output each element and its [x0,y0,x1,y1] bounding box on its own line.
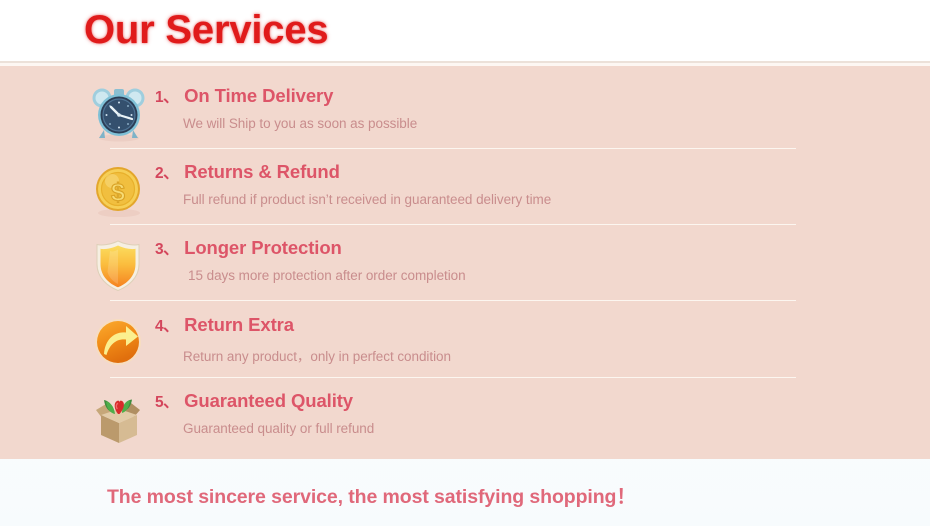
svg-text:$: $ [111,179,125,207]
service-item: 3、 Longer Protection 15 days more protec… [0,237,930,313]
service-title-line: 1、 On Time Delivery [155,85,417,111]
service-subtitle: Full refund if product isn’t received in… [183,192,551,207]
service-subtitle: Return any product，only in perfect condi… [183,345,451,365]
alarm-clock-icon [88,85,150,143]
row-divider [110,300,796,301]
service-text: 3、 Longer Protection 15 days more protec… [155,237,466,283]
shield-icon [88,237,150,295]
dollar-coin-icon: $ [88,161,150,219]
service-subtitle: We will Ship to you as soon as possible [183,116,417,131]
service-text: 5、 Guaranteed Quality Guaranteed quality… [155,390,374,436]
service-item: 5、 Guaranteed Quality Guaranteed quality… [0,390,930,466]
service-subtitle: 15 days more protection after order comp… [188,268,466,283]
service-title-line: 2、 Returns & Refund [155,161,551,187]
footer: The most sincere service, the most satis… [0,459,930,526]
page-title: Our Services [84,8,328,53]
service-number: 2、 [155,161,178,183]
service-title: Longer Protection [184,237,342,259]
service-number: 3、 [155,237,178,259]
service-text: 4、 Return Extra Return any product，only … [155,314,451,365]
service-number: 4、 [155,314,178,336]
service-title-line: 5、 Guaranteed Quality [155,390,374,416]
services-panel: 1、 On Time Delivery We will Ship to you … [0,66,930,459]
service-title-line: 3、 Longer Protection [155,237,466,263]
service-title-line: 4、 Return Extra [155,314,451,340]
service-item: 1、 On Time Delivery We will Ship to you … [0,85,930,161]
service-item: 4、 Return Extra Return any product，only … [0,314,930,390]
service-item: $ 2、 Returns & Refund Full refund if pro… [0,161,930,237]
return-arrow-icon [88,314,150,372]
gift-box-heart-icon [88,390,150,448]
service-title: Guaranteed Quality [184,390,353,412]
service-number: 5、 [155,390,178,412]
service-text: 1、 On Time Delivery We will Ship to you … [155,85,417,131]
service-text: 2、 Returns & Refund Full refund if produ… [155,161,551,207]
row-divider [110,224,796,225]
service-title: On Time Delivery [184,85,333,107]
footer-slogan: The most sincere service, the most satis… [107,480,636,509]
row-divider [110,148,796,149]
our-services-banner: Our Services [0,0,930,526]
service-title: Return Extra [184,314,294,336]
header: Our Services [0,0,930,61]
service-subtitle: Guaranteed quality or full refund [183,421,374,436]
service-title: Returns & Refund [184,161,340,183]
row-divider [110,377,796,378]
service-number: 1、 [155,85,178,107]
